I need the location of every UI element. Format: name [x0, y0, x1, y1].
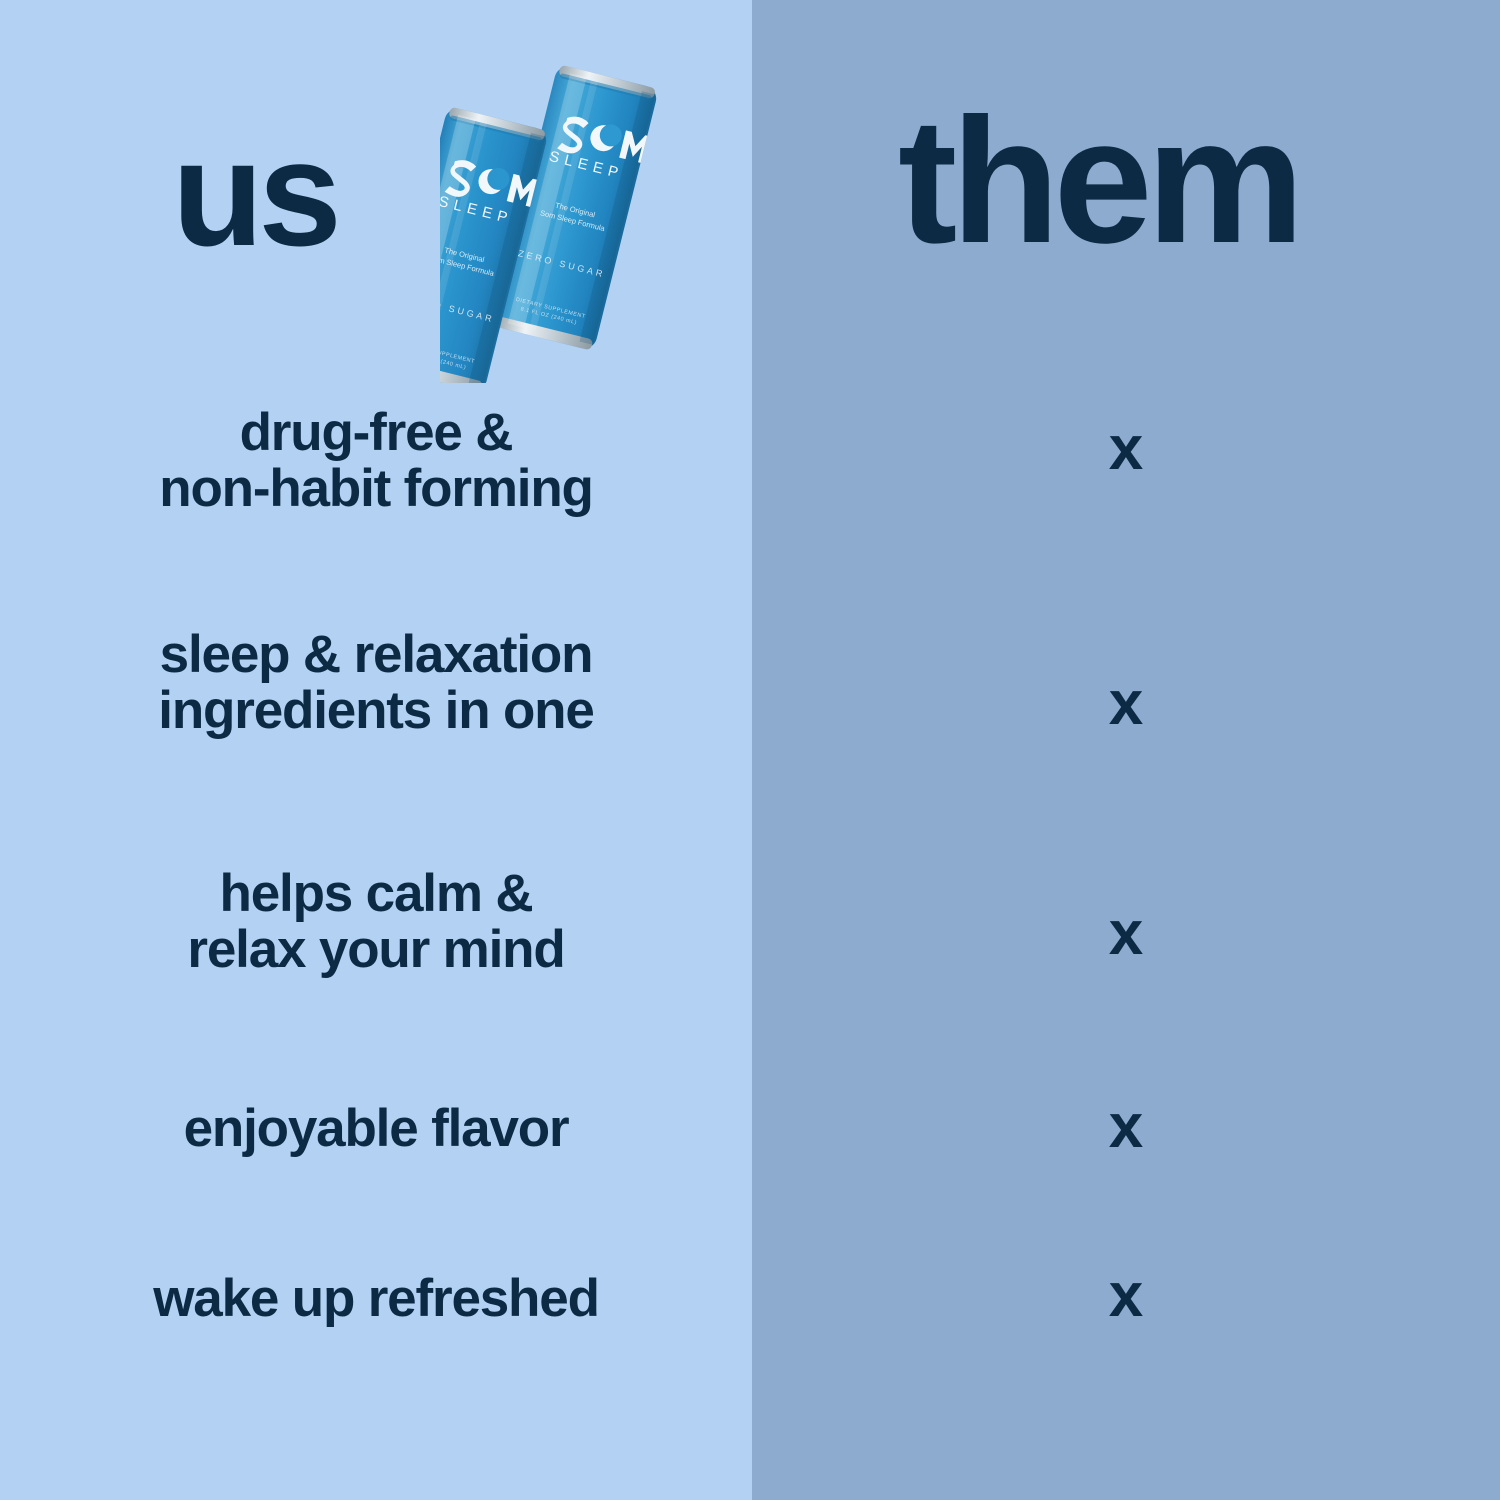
feature-row: enjoyable flavor — [0, 1101, 752, 1157]
them-x-mark: x — [752, 903, 1500, 965]
feature-label-line1: wake up refreshed — [0, 1271, 752, 1327]
feature-label-line1: enjoyable flavor — [0, 1101, 752, 1157]
them-x-mark: x — [752, 418, 1500, 480]
them-x-mark: x — [752, 1096, 1500, 1158]
som-sleep-can-image: ™ SLEEP The Original Som Sleep Formula Z… — [440, 58, 672, 383]
them-x-mark: x — [752, 673, 1500, 735]
feature-row: drug-free & non-habit forming — [0, 405, 752, 517]
feature-label-line2: relax your mind — [0, 922, 752, 978]
them-x-mark: x — [752, 1265, 1500, 1327]
feature-label-line1: sleep & relaxation — [0, 627, 752, 683]
feature-row: sleep & relaxation ingredients in one — [0, 627, 752, 739]
us-column-heading: us — [172, 118, 337, 268]
feature-row: helps calm & relax your mind — [0, 866, 752, 978]
feature-label-line2: ingredients in one — [0, 683, 752, 739]
feature-row: wake up refreshed — [0, 1271, 752, 1327]
feature-label-line1: helps calm & — [0, 866, 752, 922]
them-column-heading: them — [898, 92, 1298, 270]
feature-label-line1: drug-free & — [0, 405, 752, 461]
feature-label-line2: non-habit forming — [0, 461, 752, 517]
svg-text:™: ™ — [654, 135, 662, 143]
comparison-infographic: us them — [0, 0, 1500, 1500]
